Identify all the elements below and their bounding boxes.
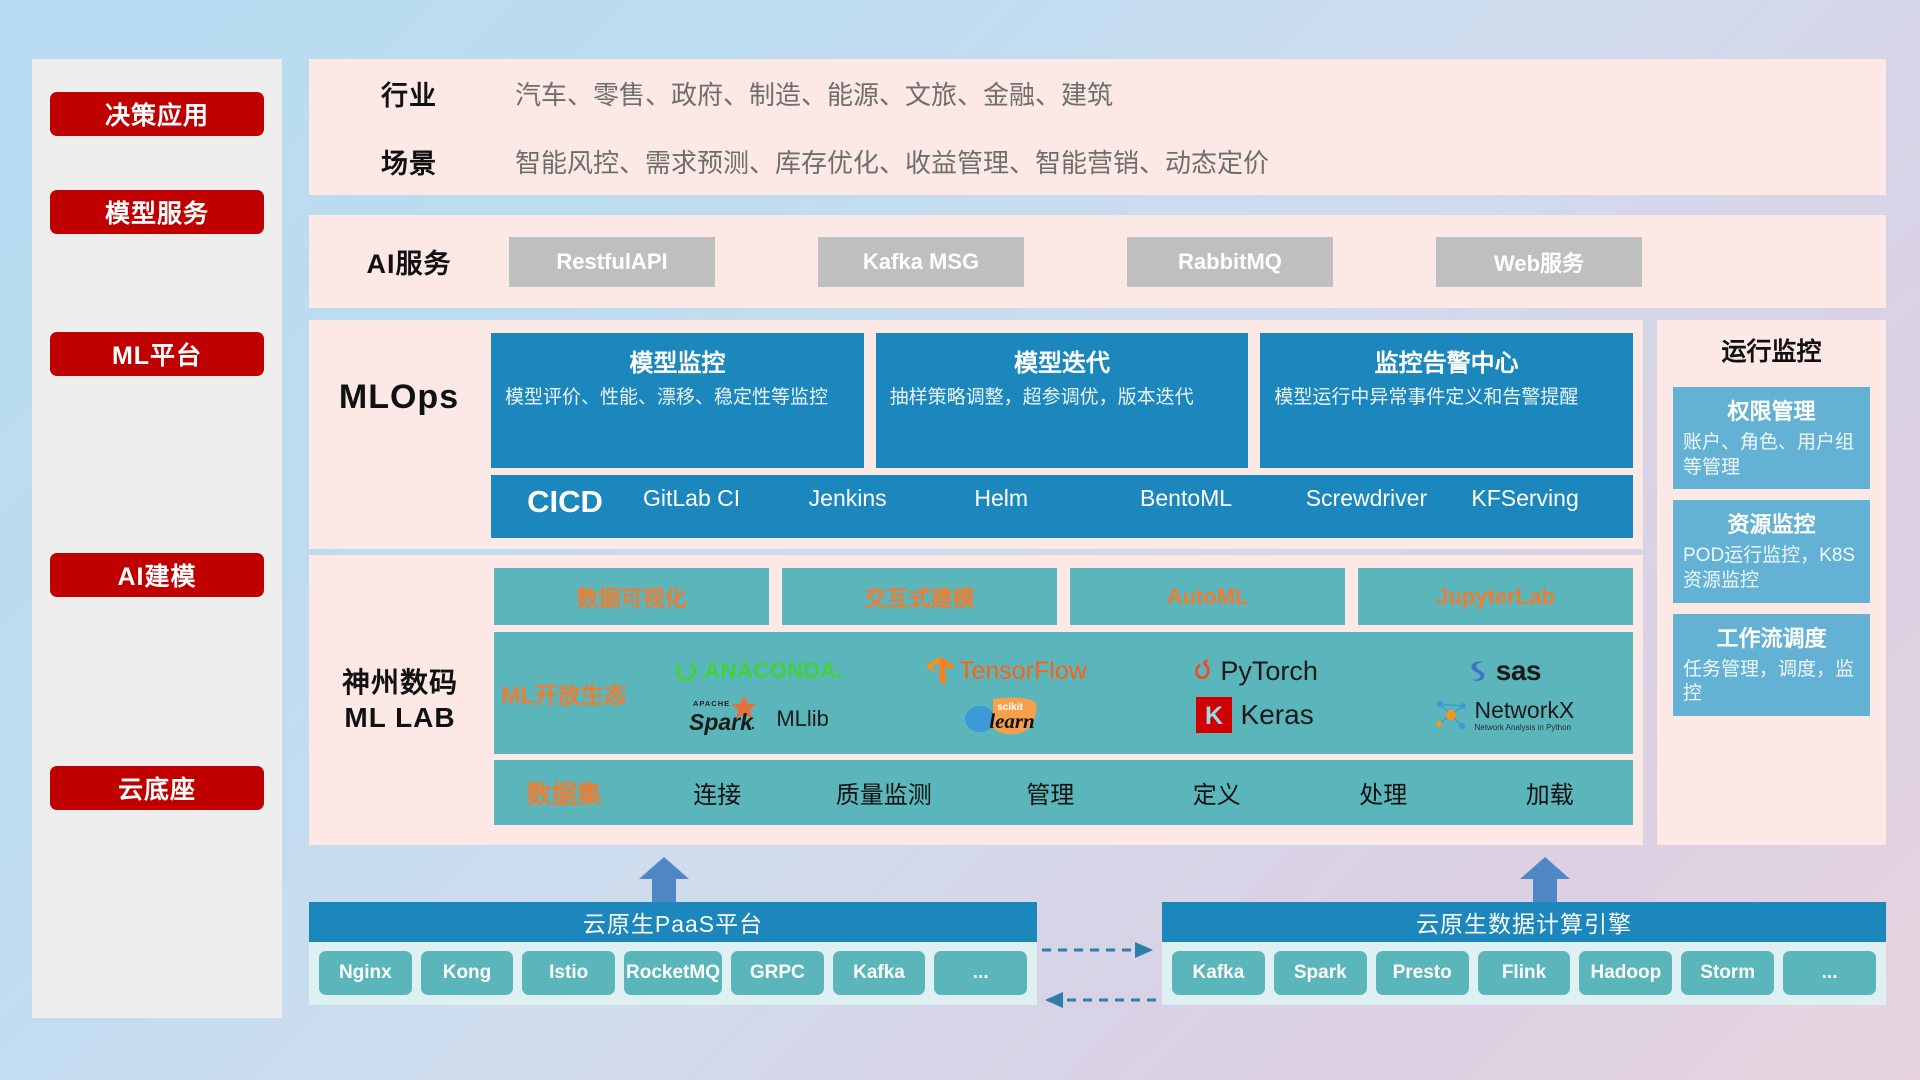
dataset-item-manage[interactable]: 管理 xyxy=(967,775,1134,810)
ai-service-chip-web-service[interactable]: Web服务 xyxy=(1436,237,1642,287)
svg-text:APACHE: APACHE xyxy=(693,699,730,708)
ai-service-panel: AI服务 RestfulAPI Kafka MSG RabbitMQ Web服务 xyxy=(309,215,1886,308)
mlops-label: MLOps xyxy=(309,320,489,475)
card-description: 模型评价、性能、漂移、稳定性等监控 xyxy=(505,386,850,411)
cicd-item-screwdriver[interactable]: Screwdriver xyxy=(1302,484,1468,513)
runtime-monitoring-title: 运行监控 xyxy=(1657,320,1886,376)
engine-pill-spark[interactable]: Spark xyxy=(1274,951,1367,995)
engine-pill-flink[interactable]: Flink xyxy=(1478,951,1571,995)
engine-pill-kafka[interactable]: Kafka xyxy=(1172,951,1265,995)
ml-open-ecosystem-box: ML开放生态 ANACONDA. TensorFlow xyxy=(494,632,1633,754)
scikit-learn-mark-icon: scikit learn xyxy=(963,693,1049,737)
ai-service-label: AI服务 xyxy=(309,242,509,281)
tensorflow-logo: TensorFlow xyxy=(926,656,1087,686)
runtime-monitoring-panel: 运行监控 权限管理 账户、角色、用户组等管理 资源监控 POD运行监控，K8S资… xyxy=(1657,320,1886,845)
tool-chip-interactive-modeling[interactable]: 交互式建模 xyxy=(782,568,1057,625)
card-title: 权限管理 xyxy=(1683,394,1860,426)
mlops-card-model-monitoring[interactable]: 模型监控 模型评价、性能、漂移、稳定性等监控 xyxy=(491,333,864,468)
sidebar-item-decision-app[interactable]: 决策应用 xyxy=(50,92,264,136)
tool-chip-jupyterlab[interactable]: JupyterLab xyxy=(1358,568,1633,625)
mlops-card-model-iteration[interactable]: 模型迭代 抽样策略调整，超参调优，版本迭代 xyxy=(876,333,1249,468)
keras-mark-icon: K xyxy=(1196,697,1232,733)
mlops-card-alert-center[interactable]: 监控告警中心 模型运行中异常事件定义和告警提醒 xyxy=(1260,333,1633,468)
apache-spark-mark-icon: APACHE Spark xyxy=(687,693,769,737)
networkx-logo: NetworkX Network Analysis in Python xyxy=(1432,697,1575,733)
paas-pill-more[interactable]: ... xyxy=(934,951,1027,995)
anaconda-mark-icon xyxy=(673,658,699,684)
stack-layer-rail: 决策应用 模型服务 ML平台 AI建模 云底座 xyxy=(32,59,282,1018)
up-arrow-icon xyxy=(637,855,691,905)
ml-lab-label-line1: 神州数码 xyxy=(342,665,458,700)
cicd-bar: CICD GitLab CI Jenkins Helm BentoML Scre… xyxy=(491,475,1633,538)
pytorch-flame-icon xyxy=(1191,657,1215,685)
tool-chip-automl[interactable]: AutoML xyxy=(1070,568,1345,625)
sidebar-item-label: 云底座 xyxy=(118,770,196,806)
modeling-tool-chip-group: 数据可视化 交互式建模 AutoML JupyterLab xyxy=(494,568,1633,625)
mllib-wordmark: MLlib xyxy=(776,706,829,732)
engine-pill-storm[interactable]: Storm xyxy=(1681,951,1774,995)
cicd-item-gitlab-ci[interactable]: GitLab CI xyxy=(639,484,805,513)
sidebar-item-ml-platform[interactable]: ML平台 xyxy=(50,332,264,376)
scenario-label: 场景 xyxy=(309,142,509,181)
networkx-graph-icon xyxy=(1432,697,1470,733)
ml-lab-label-line2: ML LAB xyxy=(344,700,455,735)
cicd-item-helm[interactable]: Helm xyxy=(970,484,1136,513)
ai-service-chip-kafka-msg[interactable]: Kafka MSG xyxy=(818,237,1024,287)
paas-pill-grpc[interactable]: GRPC xyxy=(731,951,824,995)
paas-pill-istio[interactable]: Istio xyxy=(522,951,615,995)
paas-pill-kong[interactable]: Kong xyxy=(421,951,514,995)
dataset-title: 数据集 xyxy=(494,775,634,811)
networkx-wordmark: NetworkX xyxy=(1475,699,1575,722)
card-title: 模型监控 xyxy=(505,343,850,378)
decision-application-panel: 行业 汽车、零售、政府、制造、能源、文旅、金融、建筑 场景 智能风控、需求预测、… xyxy=(309,59,1886,195)
pytorch-wordmark: PyTorch xyxy=(1220,656,1318,687)
card-title: 监控告警中心 xyxy=(1274,343,1619,378)
ai-modeling-panel: 神州数码 ML LAB 数据可视化 交互式建模 AutoML JupyterLa… xyxy=(309,555,1643,845)
networkx-tagline: Network Analysis in Python xyxy=(1475,724,1575,732)
up-arrow-icon xyxy=(1518,855,1572,905)
up-arrow-data-engine xyxy=(1518,855,1572,905)
svg-text:Spark: Spark xyxy=(689,709,754,735)
dataset-bar: 数据集 连接 质量监测 管理 定义 处理 加载 xyxy=(494,760,1633,825)
tensorflow-mark-icon xyxy=(926,656,954,686)
engine-pill-hadoop[interactable]: Hadoop xyxy=(1579,951,1672,995)
anaconda-logo: ANACONDA. xyxy=(673,658,843,684)
monitor-card-permission-management[interactable]: 权限管理 账户、角色、用户组等管理 xyxy=(1673,387,1870,489)
sidebar-item-label: 模型服务 xyxy=(105,194,209,230)
cloud-native-data-engine-group: 云原生数据计算引擎 Kafka Spark Presto Flink Hadoo… xyxy=(1162,902,1886,1005)
dashed-arrow-pair-icon xyxy=(1040,938,1158,1018)
cloud-native-paas-title: 云原生PaaS平台 xyxy=(309,902,1037,942)
mlops-panel: MLOps 模型监控 模型评价、性能、漂移、稳定性等监控 模型迭代 抽样策略调整… xyxy=(309,320,1643,549)
card-description: 模型运行中异常事件定义和告警提醒 xyxy=(1274,386,1619,411)
ml-open-ecosystem-label: ML开放生态 xyxy=(494,676,634,710)
sidebar-item-model-service[interactable]: 模型服务 xyxy=(50,190,264,234)
scikit-learn-logo: scikit learn xyxy=(963,693,1049,737)
card-title: 模型迭代 xyxy=(890,343,1235,378)
cicd-item-bentoml[interactable]: BentoML xyxy=(1136,484,1302,513)
keras-k-glyph: K xyxy=(1205,702,1223,730)
bidirectional-link-arrows xyxy=(1040,938,1158,1018)
card-title: 资源监控 xyxy=(1683,507,1860,539)
up-arrow-paas xyxy=(637,855,691,905)
cloud-native-paas-group: 云原生PaaS平台 Nginx Kong Istio RocketMQ GRPC… xyxy=(309,902,1037,1005)
engine-pill-presto[interactable]: Presto xyxy=(1376,951,1469,995)
industry-label: 行业 xyxy=(309,74,509,113)
sidebar-item-cloud-base[interactable]: 云底座 xyxy=(50,766,264,810)
card-description: 抽样策略调整，超参调优，版本迭代 xyxy=(890,386,1235,411)
industry-value: 汽车、零售、政府、制造、能源、文旅、金融、建筑 xyxy=(509,75,1886,112)
sidebar-item-label: ML平台 xyxy=(112,336,202,372)
tensorflow-wordmark: TensorFlow xyxy=(959,657,1087,686)
keras-wordmark: Keras xyxy=(1241,699,1314,731)
monitor-card-workflow-scheduling[interactable]: 工作流调度 任务管理，调度，监控 xyxy=(1673,614,1870,716)
sidebar-item-ai-modeling[interactable]: AI建模 xyxy=(50,553,264,597)
paas-pill-rocketmq[interactable]: RocketMQ xyxy=(624,951,722,995)
sidebar-item-label: 决策应用 xyxy=(105,96,209,132)
cicd-title: CICD xyxy=(491,484,639,520)
dataset-item-load[interactable]: 加载 xyxy=(1467,775,1634,810)
tool-chip-data-visualization[interactable]: 数据可视化 xyxy=(494,568,769,625)
cicd-item-kfserving[interactable]: KFServing xyxy=(1467,484,1633,513)
cloud-native-data-engine-title: 云原生数据计算引擎 xyxy=(1162,902,1886,942)
sas-logo: sas xyxy=(1465,655,1541,687)
card-title: 工作流调度 xyxy=(1683,621,1860,653)
spark-mllib-logo: APACHE Spark MLlib xyxy=(687,693,829,737)
dataset-item-process[interactable]: 处理 xyxy=(1300,775,1467,810)
card-description: 账户、角色、用户组等管理 xyxy=(1683,431,1860,480)
keras-logo: K Keras xyxy=(1196,697,1314,733)
sas-wordmark: sas xyxy=(1496,655,1541,687)
anaconda-wordmark: ANACONDA. xyxy=(704,658,843,684)
card-description: 任务管理，调度，监控 xyxy=(1683,658,1860,707)
sidebar-item-label: AI建模 xyxy=(117,557,196,593)
paas-pill-nginx[interactable]: Nginx xyxy=(319,951,412,995)
monitor-card-resource-monitoring[interactable]: 资源监控 POD运行监控，K8S资源监控 xyxy=(1673,500,1870,602)
scenario-value: 智能风控、需求预测、库存优化、收益管理、智能营销、动态定价 xyxy=(509,143,1886,180)
dataset-item-connect[interactable]: 连接 xyxy=(634,775,801,810)
cicd-item-jenkins[interactable]: Jenkins xyxy=(805,484,971,513)
mlops-card-group: 模型监控 模型评价、性能、漂移、稳定性等监控 模型迭代 抽样策略调整，超参调优，… xyxy=(491,333,1633,468)
engine-pill-more[interactable]: ... xyxy=(1783,951,1876,995)
paas-pill-kafka[interactable]: Kafka xyxy=(833,951,926,995)
sas-mark-icon xyxy=(1465,657,1491,685)
dataset-item-define[interactable]: 定义 xyxy=(1134,775,1301,810)
ai-service-chip-rabbitmq[interactable]: RabbitMQ xyxy=(1127,237,1333,287)
dataset-item-quality[interactable]: 质量监测 xyxy=(801,775,968,810)
ml-lab-label: 神州数码 ML LAB xyxy=(309,555,491,845)
svg-text:learn: learn xyxy=(990,709,1036,733)
ai-service-chip-restfulapi[interactable]: RestfulAPI xyxy=(509,237,715,287)
pytorch-logo: PyTorch xyxy=(1191,656,1318,687)
card-description: POD运行监控，K8S资源监控 xyxy=(1683,544,1860,593)
